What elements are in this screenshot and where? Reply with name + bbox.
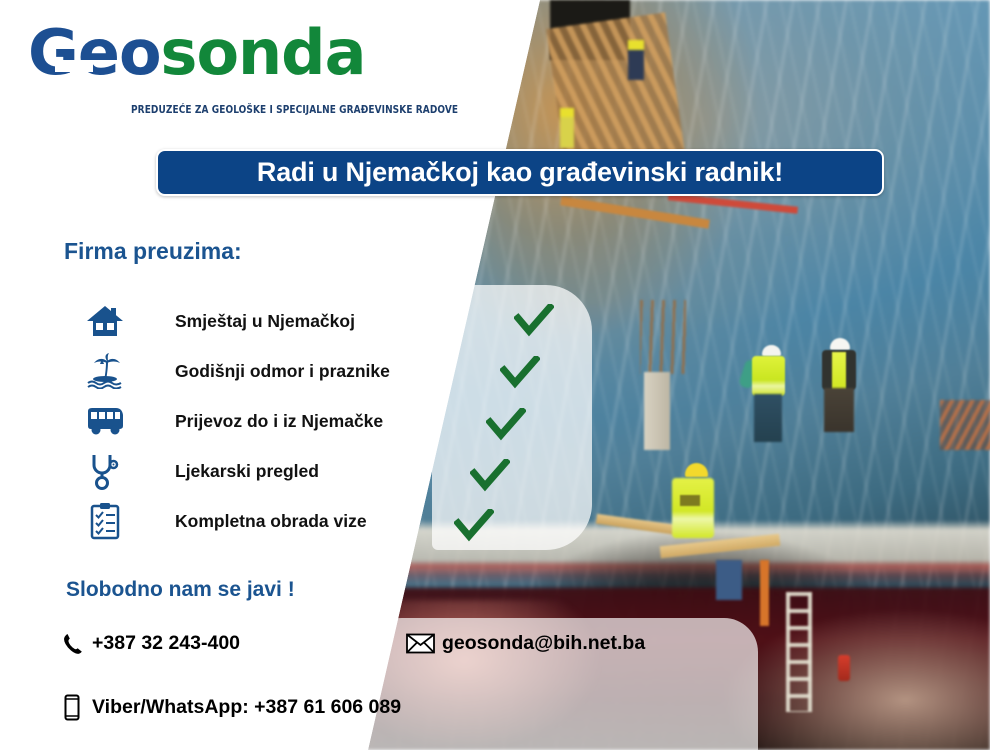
list-item-label: Ljekarski pregled [175,461,319,482]
photo-ladder [786,592,812,712]
photo-blue-box [716,560,742,600]
photo-orange-post [760,560,769,626]
phone-number: +387 32 243-400 [92,632,240,655]
logo-down-arrow-icon [52,56,96,98]
check-icon [500,356,540,392]
palm-island-icon [82,350,128,392]
list-item: Godišnji odmor i praznike [82,346,462,396]
logo-tagline: PREDUZEĆE ZA GEOLOŠKE I SPECIJALNE GRAĐE… [131,104,458,116]
photo-worker-2-legs [824,388,854,432]
photo-red-marker [838,655,850,681]
list-item-label: Godišnji odmor i praznike [175,361,390,382]
check-icon [470,459,510,495]
photo-concrete-column [644,372,670,450]
contact-heading: Slobodno nam se javi ! [66,578,295,602]
photo-worker-3-badge [680,495,700,506]
phone-contact[interactable]: +387 32 243-400 [62,632,240,655]
list-item: Ljekarski pregled [82,446,462,496]
benefits-list: Smještaj u Njemačkoj Godišnji odmor i pr… [82,296,462,546]
photo-worker-3-vest [672,478,714,538]
company-logo: Geosonda PREDUZEĆE ZA GEOLOŠKE I SPECIJA… [28,22,410,118]
photo-rebar-bundle [940,400,990,450]
list-item: Prijevoz do i iz Njemačke [82,396,462,446]
flyer-poster: Geosonda PREDUZEĆE ZA GEOLOŠKE I SPECIJA… [0,0,990,750]
logo-text-sonda: sonda [161,16,366,89]
photo-worker-distant-1 [628,40,644,80]
bus-icon [82,400,128,442]
photo-worker-2-vest [832,352,846,390]
envelope-icon [406,633,442,654]
list-item: Smještaj u Njemačkoj [82,296,462,346]
email-contact[interactable]: geosonda@bih.net.ba [406,632,645,655]
list-item-label: Prijevoz do i iz Njemačke [175,411,383,432]
check-icon [486,408,526,444]
benefits-heading: Firma preuzima: [64,238,242,265]
list-item-label: Kompletna obrada vize [175,511,367,532]
photo-worker-1-vest [752,356,785,396]
phone-handset-icon [62,633,92,655]
headline-banner: Radi u Njemačkoj kao građevinski radnik! [156,149,884,196]
email-address: geosonda@bih.net.ba [442,632,645,655]
check-icon [454,509,494,545]
mobile-contact[interactable]: Viber/WhatsApp: +387 61 606 089 [64,694,401,721]
photo-worker-1-helmet [762,345,781,356]
house-icon [82,300,128,342]
clipboard-checklist-icon [82,500,128,542]
list-item-label: Smještaj u Njemačkoj [175,311,355,332]
check-icon [514,304,554,340]
photo-worker-1-legs [754,394,782,442]
headline-text: Radi u Njemačkoj kao građevinski radnik! [257,157,783,188]
stethoscope-icon [82,450,128,492]
list-item: Kompletna obrada vize [82,496,462,546]
smartphone-icon [64,694,92,721]
photo-worker-distant-2 [560,108,574,148]
photo-rebar-stubs [640,300,686,374]
mobile-number: Viber/WhatsApp: +387 61 606 089 [92,696,401,719]
